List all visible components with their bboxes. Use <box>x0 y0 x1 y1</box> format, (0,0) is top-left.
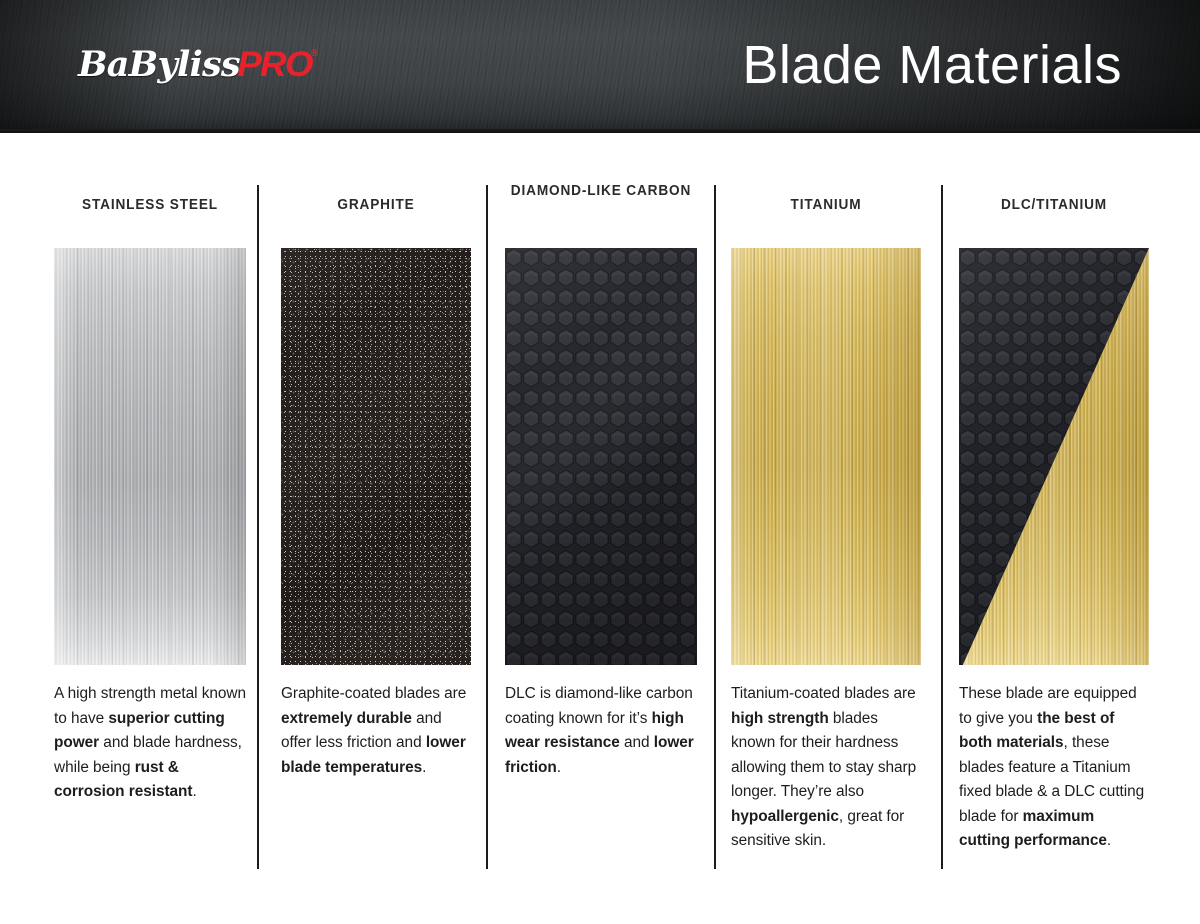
material-description-titanium: Titanium-coated blades are high strength… <box>731 682 921 854</box>
material-column-dlc-titanium: DLC/TITANIUM <box>959 133 1149 924</box>
babylisspro-logo: BaBylissPRO® <box>78 44 318 85</box>
material-swatch-diamond-like-carbon <box>505 248 697 665</box>
column-title-stainless-steel: STAINLESS STEEL <box>60 195 240 216</box>
material-column-titanium: TITANIUM Titanium-coated blades are high… <box>731 133 921 924</box>
page-title: Blade Materials <box>742 34 1122 96</box>
honeycomb-pattern-icon <box>505 248 697 665</box>
logo-brand-text: BaByliss <box>78 44 240 85</box>
column-title-diamond-like-carbon: DIAMOND-LIKE CARBON <box>511 181 691 202</box>
infographic-page: BaBylissPRO® Blade Materials STAINLESS S… <box>0 0 1200 924</box>
column-title-titanium: TITANIUM <box>737 195 916 216</box>
material-column-diamond-like-carbon: DIAMOND-LIKE CARBON <box>505 133 697 924</box>
material-column-graphite: GRAPHITE Graphite-coated blades are extr… <box>281 133 471 924</box>
column-divider-2 <box>486 185 488 869</box>
column-divider-4 <box>941 185 943 869</box>
material-description-stainless-steel: A high strength metal known to have supe… <box>54 682 246 805</box>
material-description-dlc-titanium: These blade are equipped to give you the… <box>959 682 1149 854</box>
registered-trademark-icon: ® <box>311 48 318 59</box>
page-header: BaBylissPRO® Blade Materials <box>0 0 1200 133</box>
material-column-stainless-steel: STAINLESS STEEL A high strength metal kn… <box>54 133 246 924</box>
material-description-graphite: Graphite-coated blades are extremely dur… <box>281 682 471 780</box>
logo-pro-text: PRO <box>237 45 312 85</box>
materials-grid: STAINLESS STEEL A high strength metal kn… <box>0 133 1200 924</box>
material-swatch-dlc-titanium <box>959 248 1149 665</box>
material-description-diamond-like-carbon: DLC is diamond-like carbon coating known… <box>505 682 697 780</box>
material-swatch-titanium <box>731 248 921 665</box>
column-title-graphite: GRAPHITE <box>287 195 466 216</box>
column-divider-1 <box>257 185 259 869</box>
column-title-dlc-titanium: DLC/TITANIUM <box>965 195 1144 216</box>
material-swatch-graphite <box>281 248 471 665</box>
column-divider-3 <box>714 185 716 869</box>
material-swatch-stainless-steel <box>54 248 246 665</box>
